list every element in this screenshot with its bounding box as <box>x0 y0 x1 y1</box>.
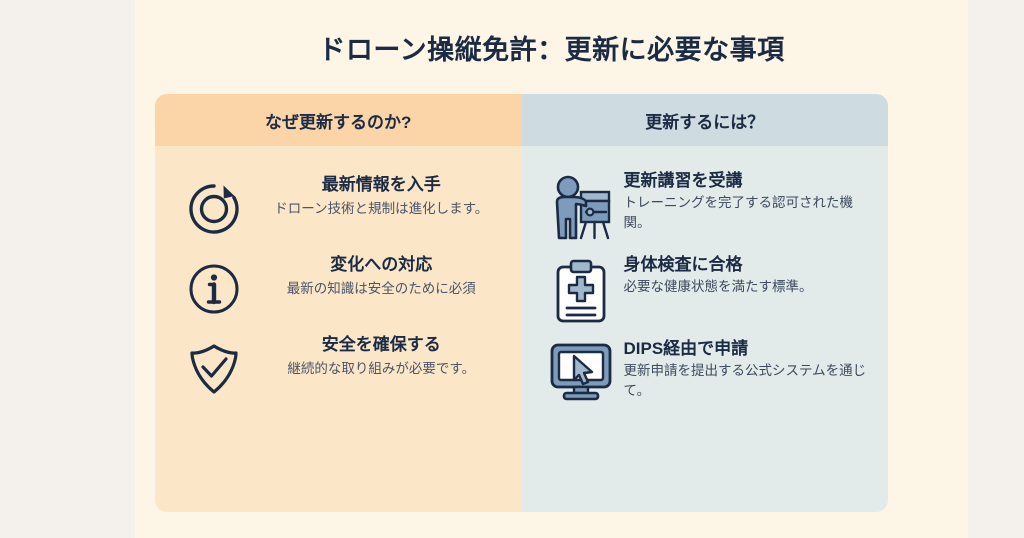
list-item: 更新講習を受講 トレーニングを完了する認可された機関。 <box>538 170 873 240</box>
list-item-description: 最新の知識は安全のために必須 <box>257 279 506 299</box>
list-item-text: 安全を確保する 継続的な取り組みが必要です。 <box>257 334 506 379</box>
list-item-title: 身体検査に合格 <box>624 254 873 275</box>
list-item-title: 最新情報を入手 <box>257 174 506 195</box>
list-item-description: ドローン技術と規制は進化します。 <box>257 199 506 219</box>
column-header-why-renew: なぜ更新するのか? <box>155 94 522 146</box>
column-why-renew: なぜ更新するのか? 最新情報を入手 ドローン技術と規制は進化します。 <box>155 94 522 512</box>
page-title: ドローン操縦免許：更新に必要な事項 <box>135 28 968 67</box>
list-item-text: 最新情報を入手 ドローン技術と規制は進化します。 <box>257 174 506 219</box>
list-item-text: 身体検査に合格 必要な健康状態を満たす標準。 <box>624 254 873 297</box>
list-item-description: 必要な健康状態を満たす標準。 <box>624 277 873 297</box>
shield-check-icon <box>171 334 257 400</box>
medical-clipboard-icon <box>538 254 624 324</box>
column-body-how-to-renew: 更新講習を受講 トレーニングを完了する認可された機関。 <box>522 146 889 512</box>
column-header-how-to-renew: 更新するには？ <box>522 94 889 146</box>
refresh-icon <box>171 174 257 240</box>
list-item: 安全を確保する 継続的な取り組みが必要です。 <box>171 334 506 400</box>
instructor-icon <box>538 170 624 240</box>
list-item-text: 変化への対応 最新の知識は安全のために必須 <box>257 254 506 299</box>
list-item-title: DIPS経由で申請 <box>624 338 873 359</box>
infographic-canvas: ドローン操縦免許：更新に必要な事項 なぜ更新するのか? 最新情報を入手 ドロー <box>135 0 968 538</box>
list-item: 最新情報を入手 ドローン技術と規制は進化します。 <box>171 174 506 240</box>
column-how-to-renew: 更新するには？ <box>522 94 889 512</box>
list-item-description: 更新申請を提出する公式システムを通じて。 <box>624 361 873 400</box>
column-body-why-renew: 最新情報を入手 ドローン技術と規制は進化します。 <box>155 146 522 512</box>
list-item-title: 更新講習を受講 <box>624 170 873 191</box>
list-item-title: 安全を確保する <box>257 334 506 355</box>
info-icon <box>171 254 257 320</box>
list-item-text: 更新講習を受講 トレーニングを完了する認可された機関。 <box>624 170 873 232</box>
two-column-panel: なぜ更新するのか? 最新情報を入手 ドローン技術と規制は進化します。 <box>155 94 888 512</box>
list-item-description: トレーニングを完了する認可された機関。 <box>624 193 873 232</box>
list-item-description: 継続的な取り組みが必要です。 <box>257 359 506 379</box>
monitor-cursor-icon <box>538 338 624 402</box>
list-item: DIPS経由で申請 更新申請を提出する公式システムを通じて。 <box>538 338 873 402</box>
list-item: 身体検査に合格 必要な健康状態を満たす標準。 <box>538 254 873 324</box>
list-item-text: DIPS経由で申請 更新申請を提出する公式システムを通じて。 <box>624 338 873 400</box>
list-item-title: 変化への対応 <box>257 254 506 275</box>
list-item: 変化への対応 最新の知識は安全のために必須 <box>171 254 506 320</box>
